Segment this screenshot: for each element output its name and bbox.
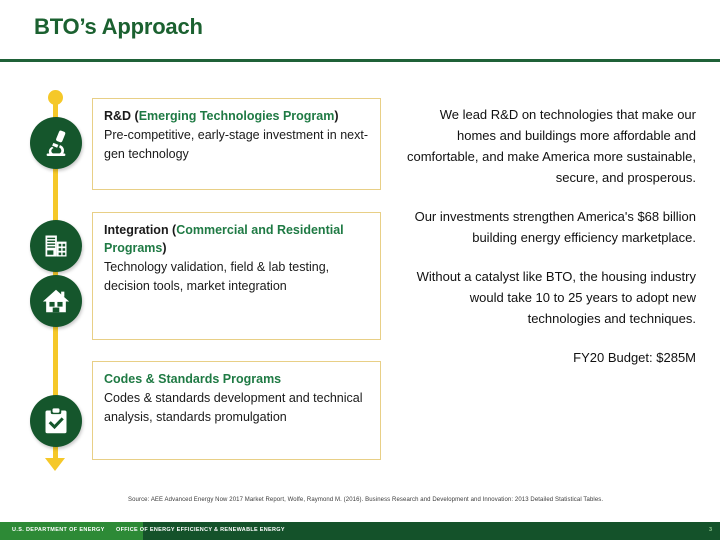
clipboard-check-icon [42,407,70,435]
heading-suffix: ) [334,109,338,123]
heading-prefix: Integration ( [104,223,176,237]
title-divider [0,59,720,62]
fy20-budget-text: FY20 Budget: $285M [404,347,696,368]
timeline-node-codes[interactable] [30,395,82,447]
house-icon [41,286,71,316]
content-box-rd: R&D (Emerging Technologies Program) Pre-… [92,98,381,190]
timeline-node-commercial[interactable] [30,220,82,272]
timeline-node-residential[interactable] [30,275,82,327]
heading-program-name: Emerging Technologies Program [139,109,335,123]
content-box-rd-heading: R&D (Emerging Technologies Program) [104,107,369,125]
page-title: BTO’s Approach [34,14,203,40]
heading-prefix: R&D ( [104,109,139,123]
microscope-icon [41,128,71,158]
heading-program-name: Codes & Standards Programs [104,372,281,386]
content-box-rd-body: Pre-competitive, early-stage investment … [104,126,369,164]
slide-footer: U.S. DEPARTMENT OF ENERGY OFFICE OF ENER… [0,522,720,540]
content-box-codes-heading: Codes & Standards Programs [104,370,369,388]
right-column-text: We lead R&D on technologies that make ou… [404,104,696,368]
content-box-integration-heading: Integration (Commercial and Residential … [104,221,369,257]
right-paragraph-2: Our investments strengthen America's $68… [404,206,696,248]
footer-office-label: OFFICE OF ENERGY EFFICIENCY & RENEWABLE … [116,527,285,533]
source-note: Source: AEE Advanced Energy Now 2017 Mar… [128,497,713,505]
content-box-integration-body: Technology validation, field & lab testi… [104,258,369,296]
right-paragraph-3: Without a catalyst like BTO, the housing… [404,266,696,329]
heading-suffix: ) [162,241,166,255]
right-paragraph-1: We lead R&D on technologies that make ou… [404,104,696,188]
content-box-integration: Integration (Commercial and Residential … [92,212,381,340]
timeline-end-arrow-icon [45,458,65,471]
footer-page-number: 3 [709,527,712,533]
content-box-codes-body: Codes & standards development and techni… [104,389,369,427]
slide-canvas: BTO’s Approach [0,0,720,540]
office-building-icon [42,232,70,260]
content-box-codes: Codes & Standards Programs Codes & stand… [92,361,381,460]
timeline-node-rd[interactable] [30,117,82,169]
footer-department-label: U.S. DEPARTMENT OF ENERGY [12,527,105,533]
